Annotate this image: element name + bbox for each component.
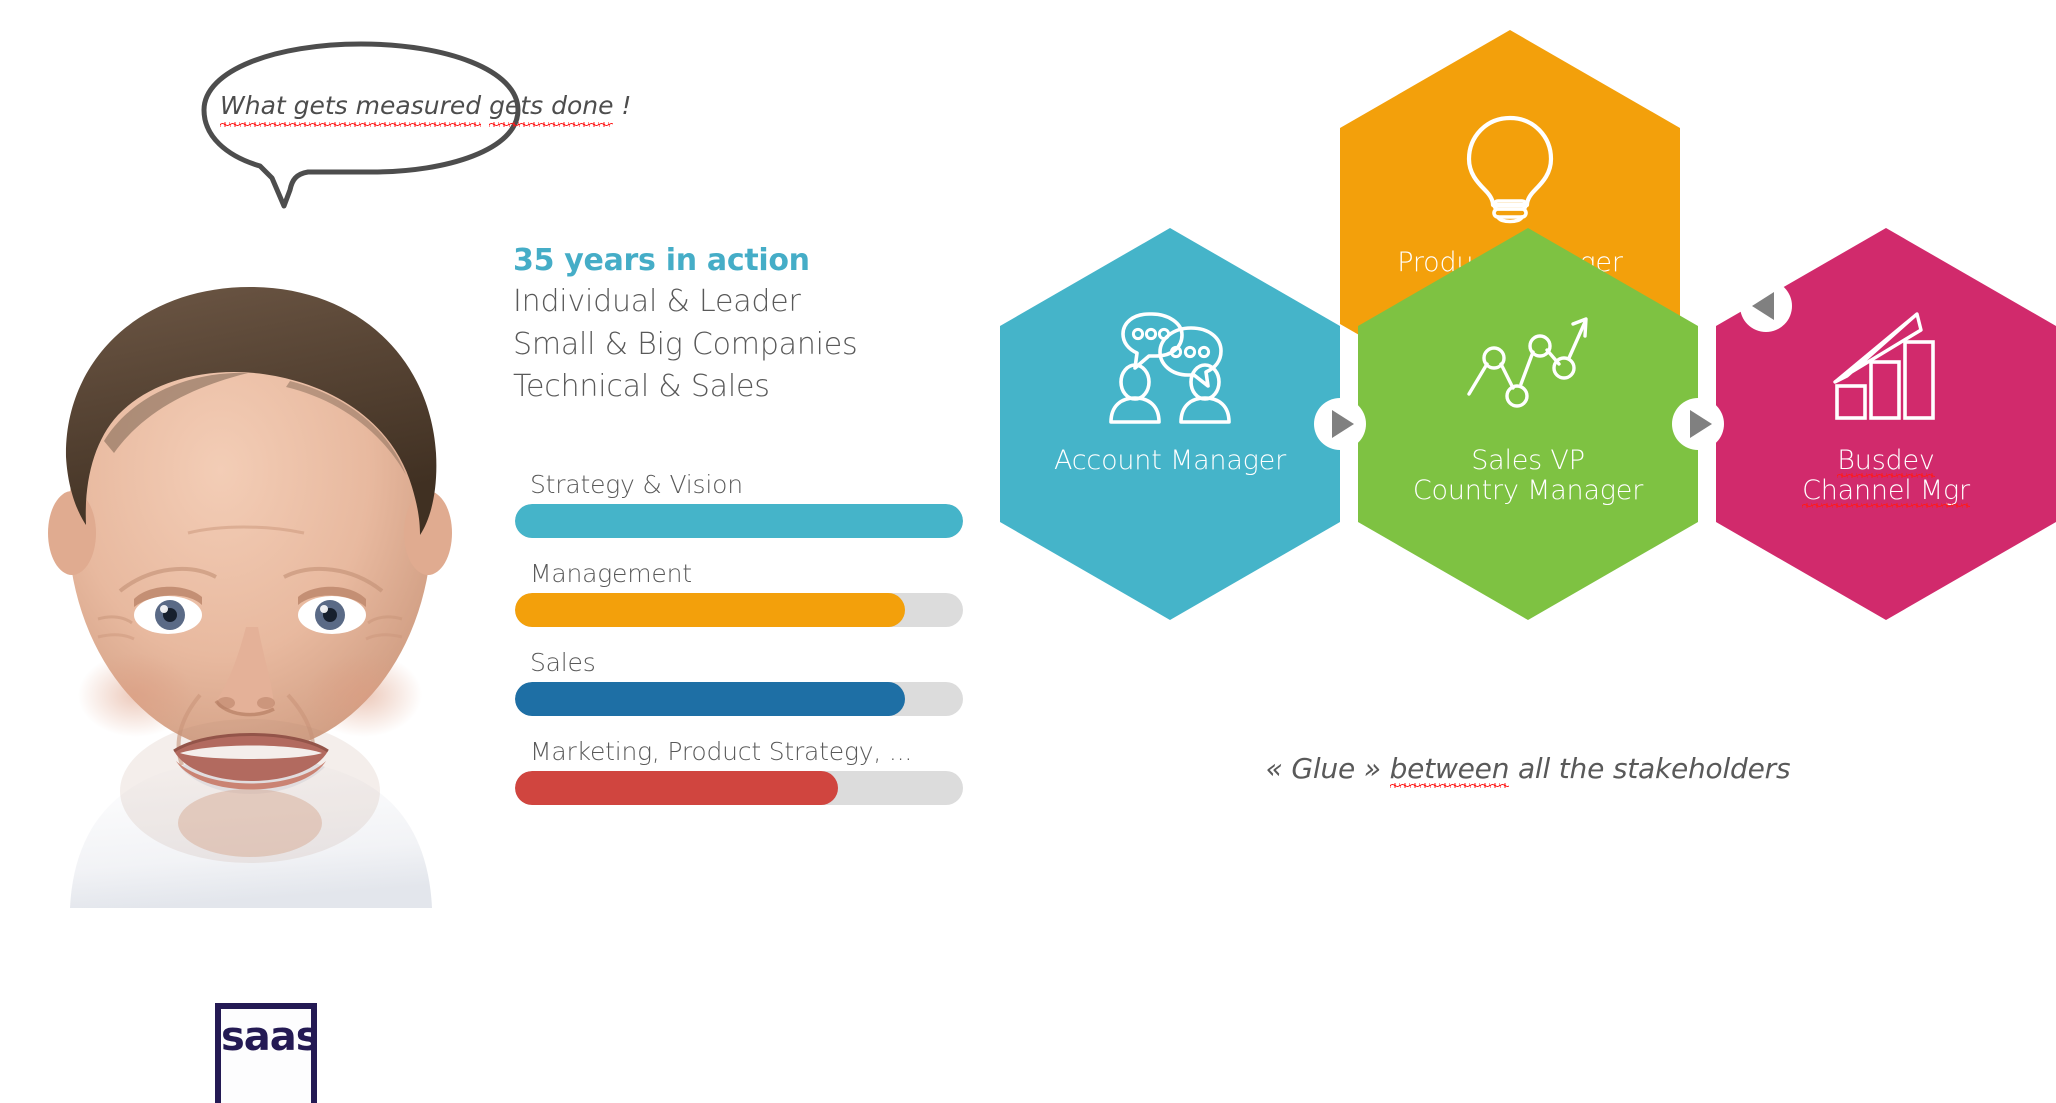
bubble-line-1: What gets measured: [220, 88, 481, 124]
hexagon-label-line: Channel Mgr: [1802, 476, 1970, 506]
glue-caption: « Glue » between all the stakeholders: [1000, 752, 2056, 785]
trend-line-chart-icon: [1463, 306, 1593, 424]
skill-label-management: Management: [530, 559, 963, 588]
hexagon-label-line: Busdev: [1837, 446, 1934, 476]
hexagon-label-sales-vp: Sales VP Country Manager: [1413, 446, 1643, 506]
lightbulb-icon: [1445, 108, 1575, 226]
two-people-talking-icon: [1105, 306, 1235, 424]
skill-row-strategy: Strategy & Vision: [515, 470, 963, 538]
connector-product-to-busdev[interactable]: [1740, 280, 1792, 332]
skill-bar-chart: Strategy & Vision Management Sales Marke…: [515, 470, 963, 805]
speech-bubble: What gets measured gets done !: [196, 38, 526, 213]
growth-bar-chart-icon: [1821, 306, 1951, 424]
speech-bubble-text: What gets measured gets done !: [220, 88, 508, 124]
shirt-logo: saas: [215, 1003, 317, 1103]
hexagon-label-busdev: Busdev Channel Mgr: [1802, 446, 1970, 506]
skill-fill-sales: [515, 682, 905, 716]
skill-label-marketing: Marketing, Product Strategy, ...: [530, 737, 963, 766]
skill-fill-strategy: [515, 504, 963, 538]
caricature-portrait: saas: [40, 195, 460, 908]
skill-track-strategy: [515, 504, 963, 538]
shirt-logo-text: saas: [221, 1014, 311, 1060]
role-hexagon-cluster: Product Manager: [1000, 30, 2056, 750]
profile-heading: 35 years in action: [513, 243, 973, 278]
hexagon-label-line: Sales VP: [1413, 446, 1643, 476]
bubble-line-2: gets done: [489, 88, 613, 124]
profile-line-individual: Individual & Leader: [513, 281, 973, 324]
profile-text-block: 35 years in action Individual & Leader S…: [513, 243, 973, 409]
hexagon-label-account-manager: Account Manager: [1054, 446, 1286, 476]
glue-caption-misspelled: between: [1390, 752, 1510, 785]
skill-label-sales: Sales: [530, 648, 963, 677]
profile-line-companies: Small & Big Companies: [513, 324, 973, 367]
bubble-line-2-suffix: !: [613, 91, 631, 120]
glue-caption-prefix: « Glue »: [1266, 752, 1390, 785]
play-right-icon: [1690, 410, 1712, 438]
connector-account-to-sales[interactable]: [1314, 398, 1366, 450]
skill-row-management: Management: [515, 559, 963, 627]
hexagon-label-line: Country Manager: [1413, 476, 1643, 506]
skill-track-management: [515, 593, 963, 627]
profile-line-technical: Technical & Sales: [513, 366, 973, 409]
play-left-icon: [1752, 292, 1774, 320]
glue-caption-suffix: all the stakeholders: [1509, 752, 1790, 785]
skill-row-marketing: Marketing, Product Strategy, ...: [515, 737, 963, 805]
skill-fill-management: [515, 593, 905, 627]
hexagon-label-line: Account Manager: [1054, 446, 1286, 476]
skill-label-strategy: Strategy & Vision: [530, 470, 963, 499]
caricature-illustration: [40, 195, 460, 908]
play-right-icon: [1332, 410, 1354, 438]
hexagon-account-manager[interactable]: Account Manager: [1000, 228, 1340, 620]
connector-sales-to-busdev[interactable]: [1672, 398, 1724, 450]
skill-row-sales: Sales: [515, 648, 963, 716]
skill-track-sales: [515, 682, 963, 716]
skill-track-marketing: [515, 771, 963, 805]
skill-fill-marketing: [515, 771, 838, 805]
